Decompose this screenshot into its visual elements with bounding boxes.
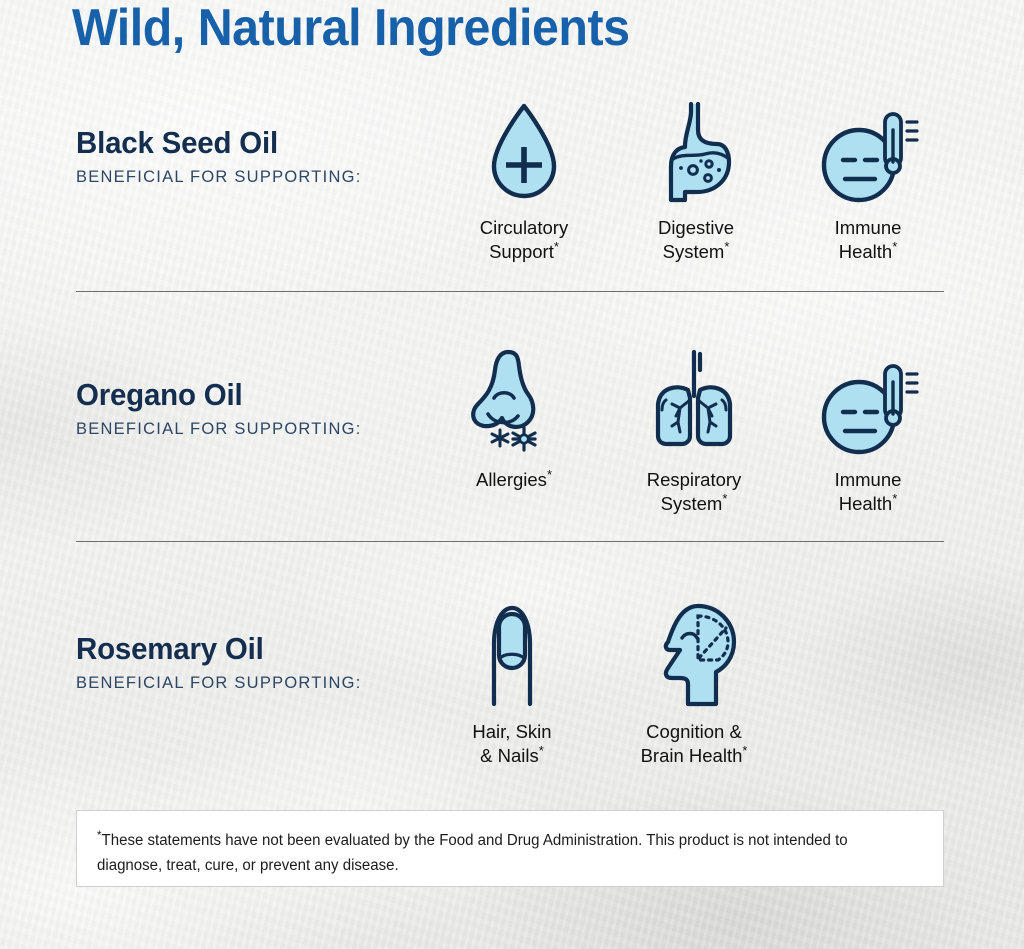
footnote-marker: * [539,743,544,758]
sick-face-thermometer-icon [778,96,958,206]
benefit-line-1: Immune [835,217,902,238]
footnote-marker: * [724,239,729,254]
benefit-caption: Allergies* [424,468,604,492]
footnote-marker: * [547,467,552,482]
benefit-line-1: Cognition & [646,721,742,742]
ingredient-label-group: Black Seed Oil BENEFICIAL FOR SUPPORTING… [76,124,436,187]
benefit-line-1: Allergies [476,469,547,490]
ingredient-label-group: Rosemary Oil BENEFICIAL FOR SUPPORTING: [76,630,436,693]
benefit-line-2: Health [839,493,892,514]
finger-nail-icon [422,600,602,710]
benefit-digestive-system: Digestive System* [606,96,786,264]
benefit-line-2: System [663,241,725,262]
benefit-line-1: Circulatory [480,217,568,238]
benefit-caption: Immune Health* [778,468,958,516]
section-divider [76,291,944,292]
benefit-line-2: Brain Health [641,745,743,766]
footnote-marker: * [554,239,559,254]
page-title: Wild, Natural Ingredients [72,0,630,58]
benefit-immune-health: Immune Health* [778,348,958,516]
benefit-caption: Digestive System* [606,216,786,264]
benefit-caption: Cognition & Brain Health* [604,720,784,768]
benefit-line-1: Digestive [658,217,734,238]
benefit-cognition-brain-health: Cognition & Brain Health* [604,600,784,768]
ingredient-subtitle: BENEFICIAL FOR SUPPORTING: [76,673,436,693]
disclaimer-body: These statements have not been evaluated… [97,832,848,874]
benefit-caption: Immune Health* [778,216,958,264]
benefit-line-2: & Nails [480,745,539,766]
disclaimer-text: *These statements have not been evaluate… [97,828,896,878]
ingredient-subtitle: BENEFICIAL FOR SUPPORTING: [76,167,436,187]
benefit-caption: Hair, Skin & Nails* [422,720,602,768]
stomach-icon [606,96,786,206]
benefit-line-2: Support [489,241,554,262]
disclaimer-box: *These statements have not been evaluate… [76,810,944,887]
lungs-icon [604,348,784,458]
footnote-marker: * [742,743,747,758]
ingredient-name: Black Seed Oil [76,124,418,162]
benefit-caption: Circulatory Support* [434,216,614,264]
head-brain-icon [604,600,784,710]
benefit-respiratory-system: Respiratory System* [604,348,784,516]
benefit-line-1: Immune [835,469,902,490]
benefit-line-2: System [661,493,723,514]
benefit-immune-health: Immune Health* [778,96,958,264]
ingredient-subtitle: BENEFICIAL FOR SUPPORTING: [76,419,436,439]
footnote-marker: * [722,491,727,506]
ingredient-label-group: Oregano Oil BENEFICIAL FOR SUPPORTING: [76,376,436,439]
benefit-hair-skin-nails: Hair, Skin & Nails* [422,600,602,768]
ingredient-name: Oregano Oil [76,376,418,414]
water-drop-plus-icon [434,96,614,206]
footnote-marker: * [892,239,897,254]
benefit-circulatory-support: Circulatory Support* [434,96,614,264]
benefit-line-2: Health [839,241,892,262]
sick-face-thermometer-icon [778,348,958,458]
nose-pollen-icon [424,348,604,458]
ingredients-infographic: Wild, Natural Ingredients Black Seed Oil… [0,0,1024,949]
footnote-marker: * [892,491,897,506]
benefit-line-1: Hair, Skin [472,721,551,742]
benefit-line-1: Respiratory [647,469,742,490]
benefit-allergies: Allergies* [424,348,604,492]
benefit-caption: Respiratory System* [604,468,784,516]
section-divider [76,541,944,542]
ingredient-name: Rosemary Oil [76,630,418,668]
